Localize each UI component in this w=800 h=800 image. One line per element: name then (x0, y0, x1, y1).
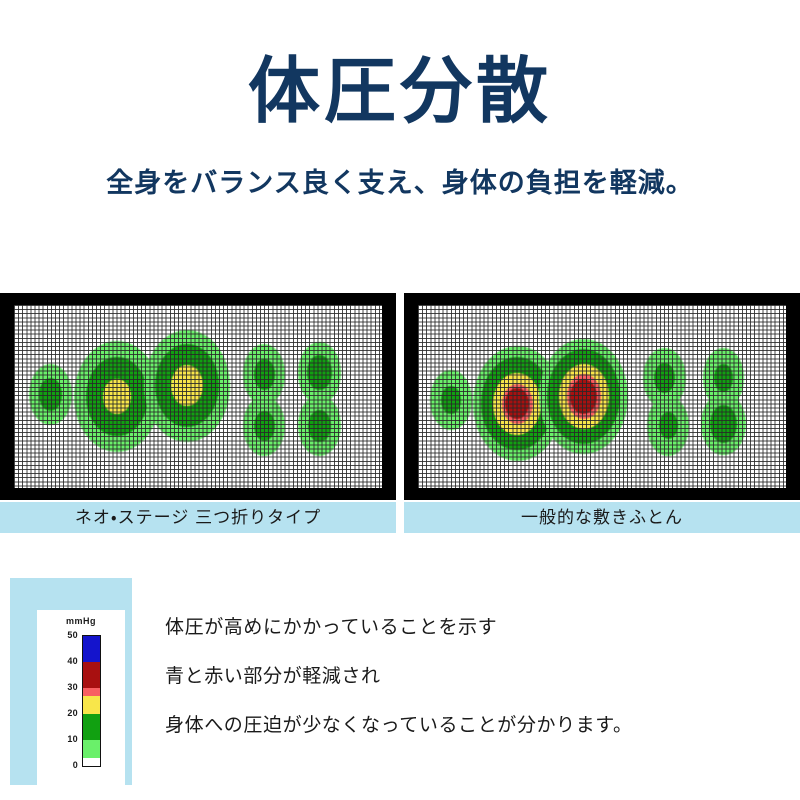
panel-general-futon: 一般的な敷きふとん (404, 293, 800, 533)
heatmap-surface-neo-stage (14, 305, 382, 488)
legend-band-20-27 (83, 696, 100, 714)
pressure-blob-head (441, 386, 460, 413)
explanation-line-3: 身体への圧迫が少なくなっていることが分かります。 (165, 714, 765, 737)
callout-arrow-icon (68, 582, 90, 597)
legend-band-27-30 (83, 688, 100, 696)
explanation-line-2: 青と赤い部分が軽減され (165, 665, 765, 688)
legend-and-explanation: mmHg 50403020100 体圧が高めにかかっていることを示す青と赤い部分… (0, 560, 800, 800)
legend-tick-30: 30 (67, 683, 78, 692)
legend-band-40-50 (83, 636, 100, 662)
legend-band-30-40 (83, 662, 100, 688)
legend-tick-0: 0 (73, 761, 78, 770)
heatmap-frame-neo-stage (0, 293, 396, 500)
heatmap-frame-general-futon (404, 293, 800, 500)
header: 体圧分散 全身をバランス良く支え、身体の負担を軽減。 (0, 0, 800, 288)
panel-neo-stage: ネオ・ステージ 三つ折りタイプ (0, 293, 396, 533)
pressure-blob-shoulder (103, 379, 130, 415)
explanation-line-1: 体圧が高めにかかっていることを示す (165, 616, 765, 639)
legend-unit-label: mmHg (37, 616, 125, 626)
heatmap-surface-general-futon (418, 305, 786, 488)
panel-caption-general-futon: 一般的な敷きふとん (404, 502, 800, 533)
legend-band-10-20 (83, 714, 100, 740)
pressure-blob-heel-r (307, 355, 331, 390)
legend-colorbar (82, 635, 101, 767)
pressure-blob-thigh (254, 359, 275, 389)
legend-band-3-10 (83, 740, 100, 758)
legend-tick-50: 50 (67, 631, 78, 640)
pressure-blob-calf (254, 411, 275, 441)
pressure-comparison: ネオ・ステージ 三つ折りタイプ 一般的な敷きふとん (0, 293, 800, 533)
pressure-blob-heel-l (710, 405, 737, 443)
page-subtitle: 全身をバランス良く支え、身体の負担を軽減。 (0, 166, 800, 200)
pressure-blob-heel-l (308, 410, 331, 443)
legend-tick-20: 20 (67, 709, 78, 718)
legend-tick-40: 40 (67, 657, 78, 666)
panel-caption-neo-stage: ネオ・ステージ 三つ折りタイプ (0, 502, 396, 533)
legend-tick-10: 10 (67, 735, 78, 744)
legend-callout: mmHg 50403020100 (10, 578, 132, 785)
page-title: 体圧分散 (0, 53, 800, 131)
pressure-blob-calf (659, 412, 678, 439)
legend-card: mmHg 50403020100 (37, 610, 125, 785)
pressure-blob-heel-r (714, 364, 733, 391)
explanation-text: 体圧が高めにかかっていることを示す青と赤い部分が軽減され身体への圧迫が少なくなっ… (165, 616, 765, 737)
pressure-blob-hip (171, 365, 203, 406)
legend-band-0-3 (83, 758, 100, 766)
